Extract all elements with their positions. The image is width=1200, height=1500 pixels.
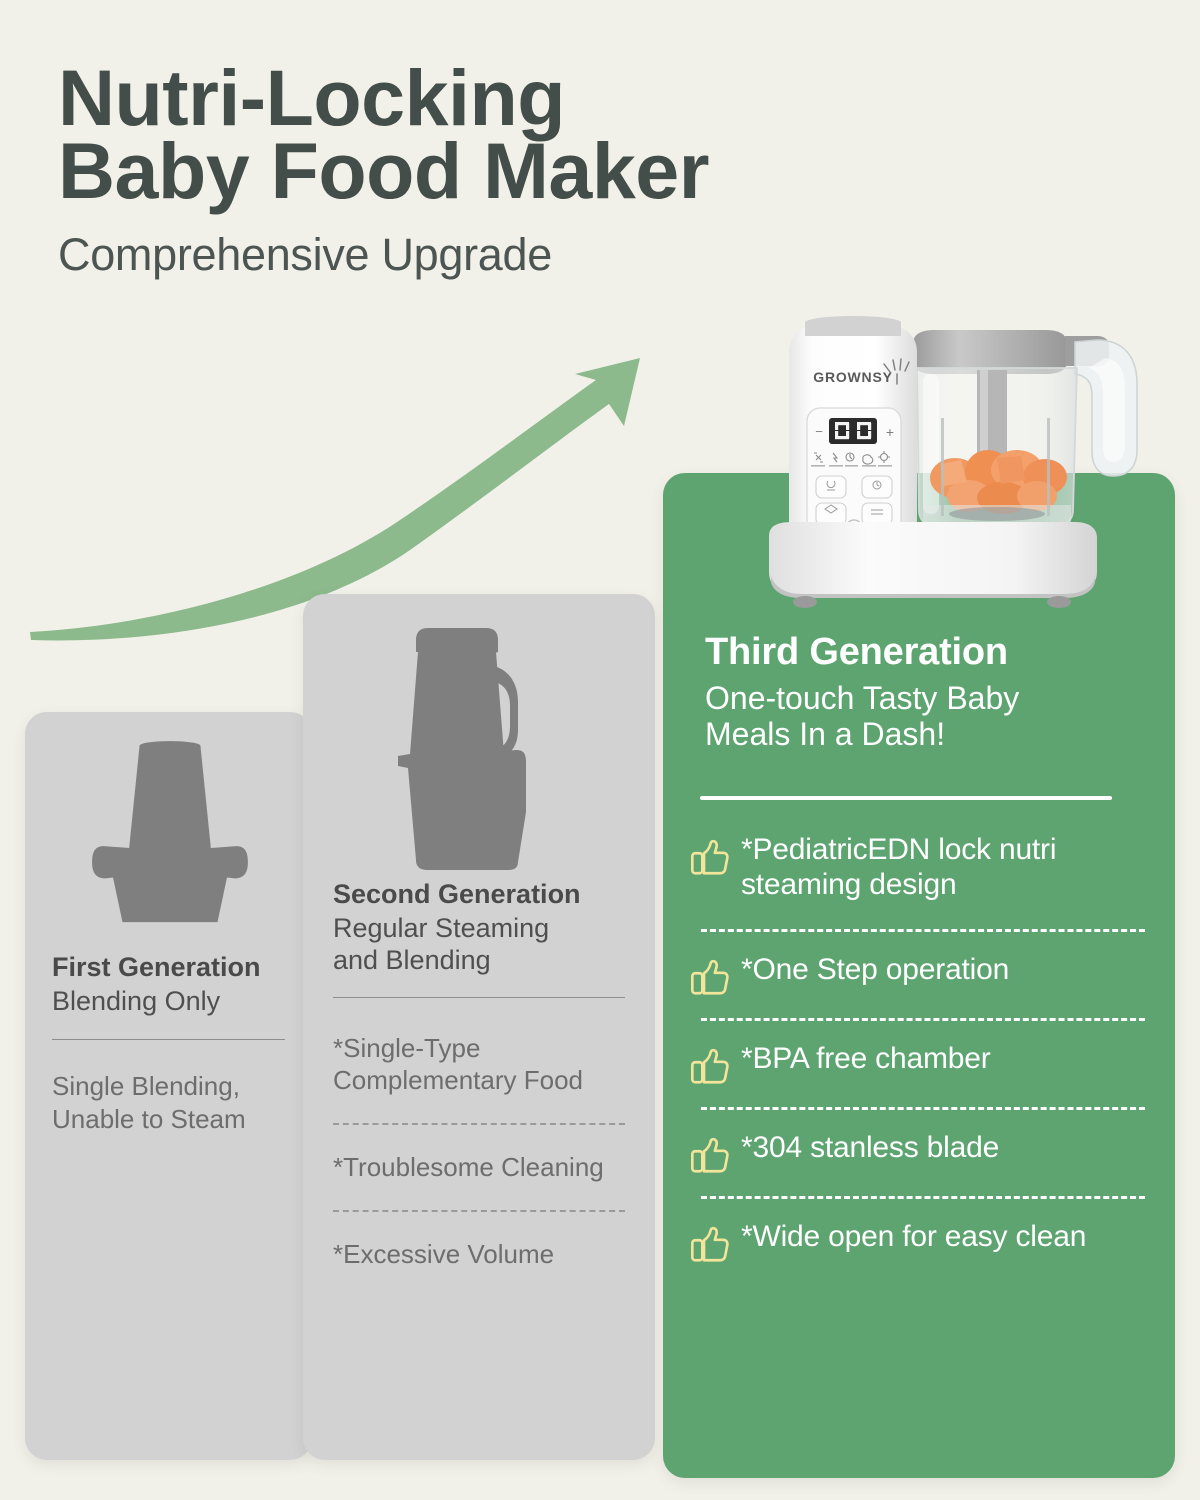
second-generation-point: *Excessive Volume — [333, 1238, 625, 1271]
third-generation-card: Third Generation One-touch Tasty Baby Me… — [663, 473, 1175, 1478]
second-generation-point: *Single-Type Complementary Food — [333, 1032, 625, 1098]
timer-button — [862, 476, 892, 498]
third-generation-title: Third Generation — [705, 631, 1135, 674]
feature-text: *304 stanless blade — [741, 1131, 999, 1166]
first-generation-card: First Generation Blending Only Single Bl… — [25, 712, 312, 1460]
feature-divider — [701, 1107, 1145, 1110]
thumbs-up-icon — [689, 1046, 729, 1086]
feature-divider — [701, 929, 1145, 932]
thumbs-up-icon — [689, 1135, 729, 1175]
first-generation-name: First Generation — [52, 952, 285, 984]
steam-button — [816, 476, 846, 498]
thumbs-up-icon — [689, 837, 729, 877]
blend-button — [816, 503, 846, 525]
first-generation-body: First Generation Blending Only Single Bl… — [25, 952, 312, 1136]
second-generation-name: Second Generation — [333, 879, 625, 911]
feature-text: *Wide open for easy clean — [741, 1220, 1086, 1255]
feature-item: *304 stanless blade — [683, 1131, 1163, 1175]
thumbs-up-icon — [689, 957, 729, 997]
dashed-divider — [333, 1123, 625, 1125]
brand-label: GROWNSY — [813, 369, 893, 385]
divider — [52, 1039, 285, 1040]
page-title: Nutri-Locking Baby Food Maker — [58, 62, 958, 207]
thumbs-up-icon — [689, 1224, 729, 1264]
title-block: Nutri-Locking Baby Food Maker Comprehens… — [58, 62, 958, 281]
feature-item: *Wide open for easy clean — [683, 1220, 1163, 1264]
infographic-canvas: Nutri-Locking Baby Food Maker Comprehens… — [0, 0, 1200, 1500]
feature-list: *PediatricEDN lock nutri steaming design… — [683, 833, 1163, 1264]
dashed-divider — [333, 1210, 625, 1212]
second-generation-body: Second Generation Regular Steaming and B… — [303, 879, 655, 1271]
second-generation-card: Second Generation Regular Steaming and B… — [303, 594, 655, 1460]
chopper-silhouette — [80, 734, 260, 924]
feature-text: *BPA free chamber — [741, 1042, 991, 1077]
header-divider — [700, 796, 1112, 800]
first-generation-description: Blending Only — [52, 985, 285, 1017]
feature-item: *BPA free chamber — [683, 1042, 1163, 1086]
third-generation-header: Third Generation One-touch Tasty Baby Me… — [705, 631, 1135, 752]
second-generation-point: *Troublesome Cleaning — [333, 1151, 625, 1184]
third-generation-tagline: One-touch Tasty Baby Meals In a Dash! — [705, 680, 1135, 752]
product-illustration: GROWNSY — [745, 300, 1145, 622]
blender-jar-silhouette — [368, 622, 578, 872]
feature-divider — [701, 1196, 1145, 1199]
second-generation-description: Regular Steaming and Blending — [333, 912, 625, 977]
divider — [333, 997, 625, 998]
feature-item: *One Step operation — [683, 953, 1163, 997]
page-subtitle: Comprehensive Upgrade — [58, 229, 958, 281]
feature-text: *PediatricEDN lock nutri steaming design — [741, 833, 1056, 903]
feature-divider — [701, 1018, 1145, 1021]
first-generation-point: Single Blending, Unable to Steam — [52, 1070, 285, 1136]
baby-food-maker-product-photo: GROWNSY — [745, 300, 1145, 622]
feature-text: *One Step operation — [741, 953, 1009, 988]
minus-button: − — [815, 424, 823, 439]
plus-button: + — [886, 424, 894, 440]
feature-item: *PediatricEDN lock nutri steaming design — [683, 833, 1163, 903]
